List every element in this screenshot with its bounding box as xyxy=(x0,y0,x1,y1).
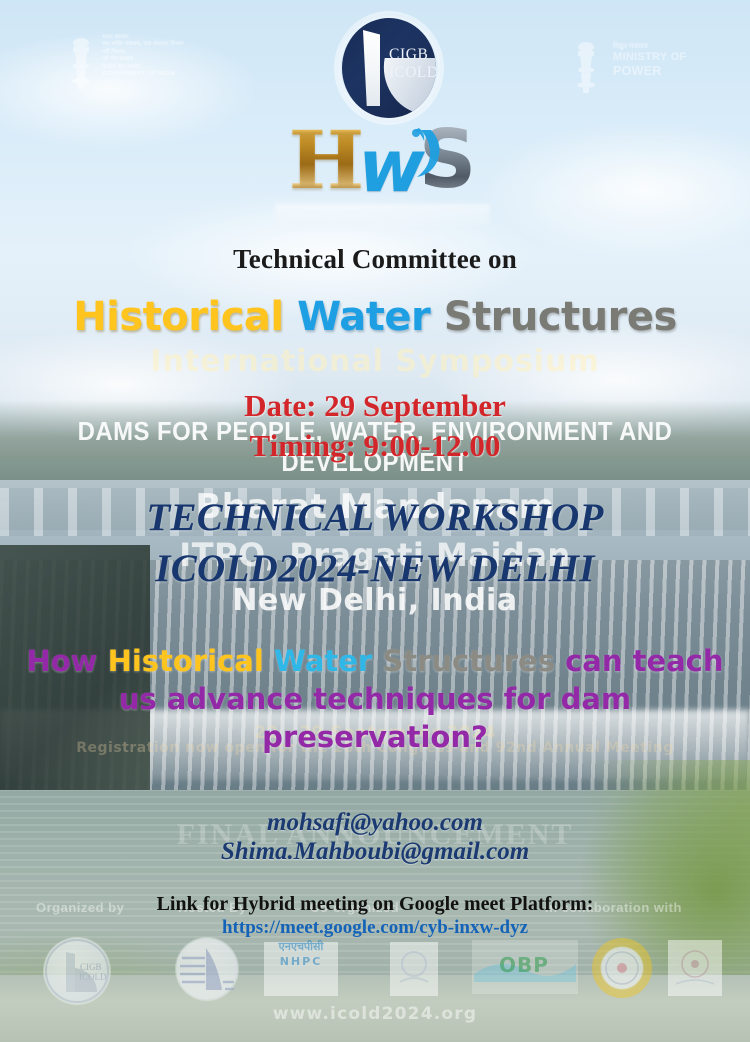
ashoka-lion-capital-icon xyxy=(68,36,94,90)
question-space-1 xyxy=(264,644,274,678)
emblem-left-line-2: जल शक्ति मंत्रालय, जल संसाधन विभाग xyxy=(102,41,183,48)
question-space-2 xyxy=(372,644,382,678)
workshop-line-1: TECHNICAL WORKSHOP xyxy=(0,492,750,543)
ministry-line-1: MINISTRY OF xyxy=(613,51,687,64)
question-part-1: How xyxy=(26,644,107,678)
workshop-heading: TECHNICAL WORKSHOP ICOLD2024-NEW DELHI xyxy=(0,492,750,594)
cigb-icold-logo: CIGB ICOLD xyxy=(337,14,441,122)
event-date: Date: 29 September xyxy=(0,386,750,426)
footer-logo-strip: CIGB ICOLD xyxy=(0,928,750,994)
emblem-left-text-block: भारत सरकार जल शक्ति मंत्रालय, जल संसाधन … xyxy=(102,34,183,78)
nhpc-hindi-text: एनएचपीसी xyxy=(268,940,334,954)
ashoka-lion-capital-icon xyxy=(573,40,599,94)
icold-logo-line-2: ICOLD xyxy=(389,64,436,82)
obp-logo-text: OBP xyxy=(485,944,563,986)
footer-logo-cigb-icold: CIGB ICOLD xyxy=(44,938,110,1004)
svg-text:ICOLD: ICOLD xyxy=(79,972,107,982)
question-word-water: Water xyxy=(274,644,372,678)
date-time-block: Date: 29 September Timing: 9:00-12.00 xyxy=(0,386,750,466)
ministry-hindi-label: विद्युत मंत्रालय xyxy=(613,42,687,51)
contact-emails: mohsafi@yahoo.com Shima.Mahboubi@gmail.c… xyxy=(0,808,750,866)
hws-letter-h: H xyxy=(289,118,365,202)
title-word-structures: Structures xyxy=(444,294,677,340)
main-title: Historical Water Structures xyxy=(0,294,750,340)
government-of-india-emblem-left: भारत सरकार जल शक्ति मंत्रालय, जल संसाधन … xyxy=(68,34,258,96)
workshop-question: How Historical Water Structures can teac… xyxy=(0,642,750,756)
ministry-of-power-emblem: विद्युत मंत्रालय MINISTRY OF POWER xyxy=(573,38,723,96)
icold-dam-icon: CIGB ICOLD xyxy=(44,938,110,1004)
hws-letter-s: S xyxy=(419,118,477,202)
svg-text:CIGB: CIGB xyxy=(80,962,102,972)
nhpc-english-text: NHPC xyxy=(268,954,334,969)
partner-emblem-icon xyxy=(390,942,438,996)
icold-logo-text: CIGB ICOLD xyxy=(389,46,436,82)
question-part-2: can teach xyxy=(555,644,724,678)
question-line-3: preservation? xyxy=(0,718,750,756)
poster-canvas: International Symposium DAMS FOR PEOPLE,… xyxy=(0,0,750,1042)
footer-logo-partner-4 xyxy=(668,940,722,996)
footer-logo-partner-1 xyxy=(390,942,438,996)
poster-content: भारत सरकार जल शक्ति मंत्रालय, जल संसाधन … xyxy=(0,0,750,1042)
footer-logo-partner-3 xyxy=(592,938,652,998)
workshop-line-2: ICOLD2024-NEW DELHI xyxy=(0,543,750,594)
question-line-1: How Historical Water Structures can teac… xyxy=(0,642,750,680)
icold-logo-line-1: CIGB xyxy=(389,46,436,64)
question-word-structures: Structures xyxy=(382,644,555,678)
dam-spillway-icon xyxy=(176,938,238,1000)
ministry-line-2: POWER xyxy=(613,64,687,79)
google-meet-label: Link for Hybrid meeting on Google meet P… xyxy=(0,893,750,916)
nhpc-logo-text: एनएचपीसी NHPC xyxy=(268,940,334,990)
dam-shape-icon xyxy=(363,30,380,106)
hws-wordmark-logo: HwS xyxy=(275,118,490,214)
technical-committee-label: Technical Committee on xyxy=(0,244,750,275)
ministry-of-power-text: विद्युत मंत्रालय MINISTRY OF POWER xyxy=(613,42,687,79)
contact-email-1[interactable]: mohsafi@yahoo.com xyxy=(0,808,750,837)
title-word-historical: Historical xyxy=(73,294,283,340)
chakra-emblem-icon xyxy=(592,938,652,998)
partner-seal-icon xyxy=(668,940,722,996)
logo-reflection xyxy=(275,204,490,230)
event-timing: Timing: 9:00-12.00 xyxy=(0,426,750,466)
hws-letter-w: w xyxy=(358,124,425,208)
icold-logo-disc: CIGB ICOLD xyxy=(342,18,436,118)
contact-email-2[interactable]: Shima.Mahboubi@gmail.com xyxy=(0,837,750,866)
title-word-water: Water xyxy=(297,294,430,340)
question-word-historical: Historical xyxy=(108,644,264,678)
emblem-left-line-5: केन्द्रीय जल आयोग xyxy=(102,64,183,71)
emblem-left-line-4: एवं गंगा संरक्षण xyxy=(102,56,183,63)
question-line-2: us advance techniques for dam xyxy=(0,680,750,718)
emblem-left-line-6: GOVERNMENT OF INDIA xyxy=(102,71,183,78)
footer-logo-incold xyxy=(176,938,238,1000)
